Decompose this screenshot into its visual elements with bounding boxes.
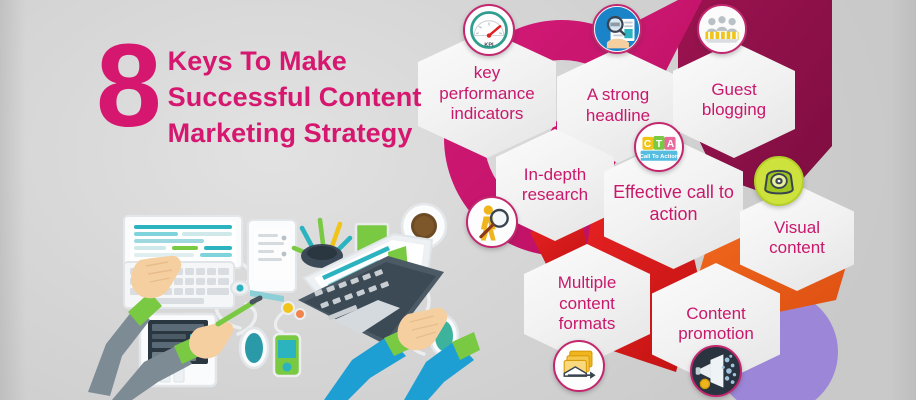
hex-label-a-strong-headline: A strong headline [557,85,679,126]
headline-lines: Keys To Make Successful Content Marketin… [168,36,422,152]
svg-text:A: A [667,139,675,150]
tablet-device [248,220,296,292]
mouse-middle [240,328,268,368]
hex-label-key-performance-indicators: key performance indicators [418,63,556,124]
headline-line-1: Keys To Make [168,44,422,80]
headline-number: 8 [96,30,158,143]
megaphone-promotion-icon [690,345,742,397]
speedometer-kpi-icon: KPI [463,4,515,56]
hex-label-content-promotion: Content promotion [652,304,780,345]
magnifier-newspaper-icon [592,4,642,54]
speakers-panel-icon [697,4,747,54]
desk-workspace-illustration [88,196,480,400]
title-block: 8 Keys To Make Successful Content Market… [96,36,422,152]
hex-label-in-depth-research: In-depth research [496,165,614,206]
infographic-canvas: 8 Keys To Make Successful Content Market… [0,0,916,400]
hex-label-effective-call-to-action: Effective call to action [604,182,743,225]
svg-text:KPI: KPI [484,43,494,49]
headline-line-3: Marketing Strategy [168,116,422,152]
hex-label-multiple-content-formats: Multiple content formats [524,273,650,334]
svg-text:Call To Action: Call To Action [640,154,679,160]
stacked-cards-formats-icon [553,340,605,392]
svg-text:C: C [644,139,652,150]
cta-badge-icon: C T A Call To Action [634,122,684,172]
hex-guest-blogging[interactable]: Guest blogging [673,42,795,158]
hex-label-guest-blogging: Guest blogging [673,80,795,121]
headline-line-2: Successful Content [168,80,422,116]
hex-visual-content[interactable]: Visual content [740,185,854,291]
green-eye-camera-icon [754,156,804,206]
desk-gadgets [231,281,305,376]
svg-text:T: T [656,139,663,150]
hex-label-visual-content: Visual content [740,218,854,259]
